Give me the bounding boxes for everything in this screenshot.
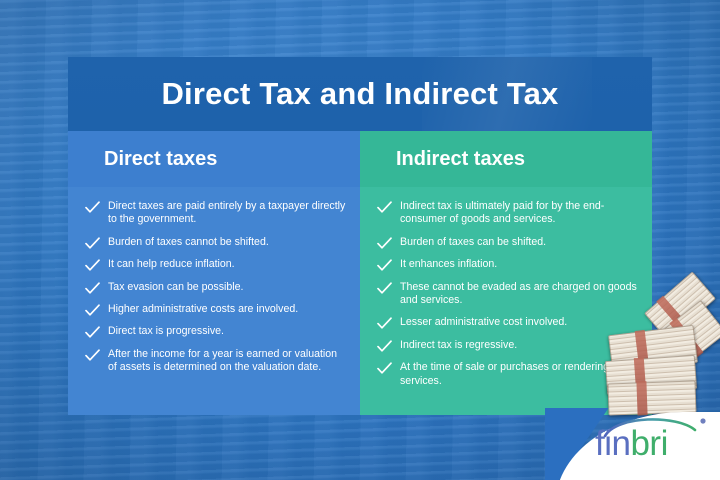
check-icon xyxy=(85,201,100,214)
list-item: Burden of taxes can be shifted. xyxy=(374,236,638,249)
list-item-text: Higher administrative costs are involved… xyxy=(108,303,298,315)
column-body-direct: Direct taxes are paid entirely by a taxp… xyxy=(68,187,360,415)
list-item-text: Tax evasion can be possible. xyxy=(108,281,243,293)
brand-logo-corner: finbri xyxy=(545,404,720,480)
check-icon xyxy=(85,259,100,272)
logo-text-fin: fin xyxy=(595,424,630,463)
check-icon xyxy=(377,317,392,330)
check-icon xyxy=(377,282,392,295)
list-item-text: It enhances inflation. xyxy=(400,258,497,270)
list-item-text: Direct taxes are paid entirely by a taxp… xyxy=(108,200,345,225)
logo-wordmark: finbri xyxy=(595,426,668,461)
column-header-direct-label: Direct taxes xyxy=(104,148,217,171)
list-item: Tax evasion can be possible. xyxy=(82,281,346,294)
list-item-text: Burden of taxes cannot be shifted. xyxy=(108,236,269,248)
page-title: Direct Tax and Indirect Tax xyxy=(161,76,558,112)
infographic-canvas: Direct Tax and Indirect Tax Direct taxes… xyxy=(0,0,720,480)
column-header-indirect: Indirect taxes xyxy=(360,131,652,187)
list-item-text: Indirect tax is regressive. xyxy=(400,339,517,351)
check-icon xyxy=(377,201,392,214)
column-header-indirect-label: Indirect taxes xyxy=(396,148,525,171)
list-item: These cannot be evaded as are charged on… xyxy=(374,281,638,308)
column-direct-taxes: Direct taxes Direct taxes are paid entir… xyxy=(68,131,360,415)
column-header-direct: Direct taxes xyxy=(68,131,360,187)
check-icon xyxy=(85,326,100,339)
list-item-text: Lesser administrative cost involved. xyxy=(400,316,567,328)
list-item-text: After the income for a year is earned or… xyxy=(108,348,337,373)
list-item: After the income for a year is earned or… xyxy=(82,348,346,375)
list-item: Higher administrative costs are involved… xyxy=(82,303,346,316)
check-icon xyxy=(377,362,392,375)
brand-logo[interactable]: finbri xyxy=(595,412,715,474)
list-item: Direct taxes are paid entirely by a taxp… xyxy=(82,200,346,227)
direct-taxes-list: Direct taxes are paid entirely by a taxp… xyxy=(82,200,346,375)
list-item-text: Burden of taxes can be shifted. xyxy=(400,236,546,248)
check-icon xyxy=(377,237,392,250)
check-icon xyxy=(85,349,100,362)
list-item-text: These cannot be evaded as are charged on… xyxy=(400,281,637,306)
list-item: Direct tax is progressive. xyxy=(82,325,346,338)
columns-container: Direct taxes Direct taxes are paid entir… xyxy=(68,131,652,415)
list-item: Indirect tax is regressive. xyxy=(374,339,638,352)
list-item: It enhances inflation. xyxy=(374,258,638,271)
list-item: It can help reduce inflation. xyxy=(82,258,346,271)
list-item-text: Direct tax is progressive. xyxy=(108,325,224,337)
list-item-text: It can help reduce inflation. xyxy=(108,258,235,270)
indirect-taxes-list: Indirect tax is ultimately paid for by t… xyxy=(374,200,638,388)
list-item: At the time of sale or purchases or rend… xyxy=(374,361,638,388)
banknote-stack-image xyxy=(604,288,720,416)
check-icon xyxy=(85,304,100,317)
list-item: Lesser administrative cost involved. xyxy=(374,316,638,329)
list-item-text: Indirect tax is ultimately paid for by t… xyxy=(400,200,604,225)
check-icon xyxy=(377,259,392,272)
list-item: Indirect tax is ultimately paid for by t… xyxy=(374,200,638,227)
logo-text-bri: bri xyxy=(630,424,667,463)
title-bar: Direct Tax and Indirect Tax xyxy=(68,57,652,131)
comparison-card: Direct Tax and Indirect Tax Direct taxes… xyxy=(68,57,652,415)
list-item: Burden of taxes cannot be shifted. xyxy=(82,236,346,249)
check-icon xyxy=(377,340,392,353)
check-icon xyxy=(85,282,100,295)
list-item-text: At the time of sale or purchases or rend… xyxy=(400,361,621,386)
check-icon xyxy=(85,237,100,250)
